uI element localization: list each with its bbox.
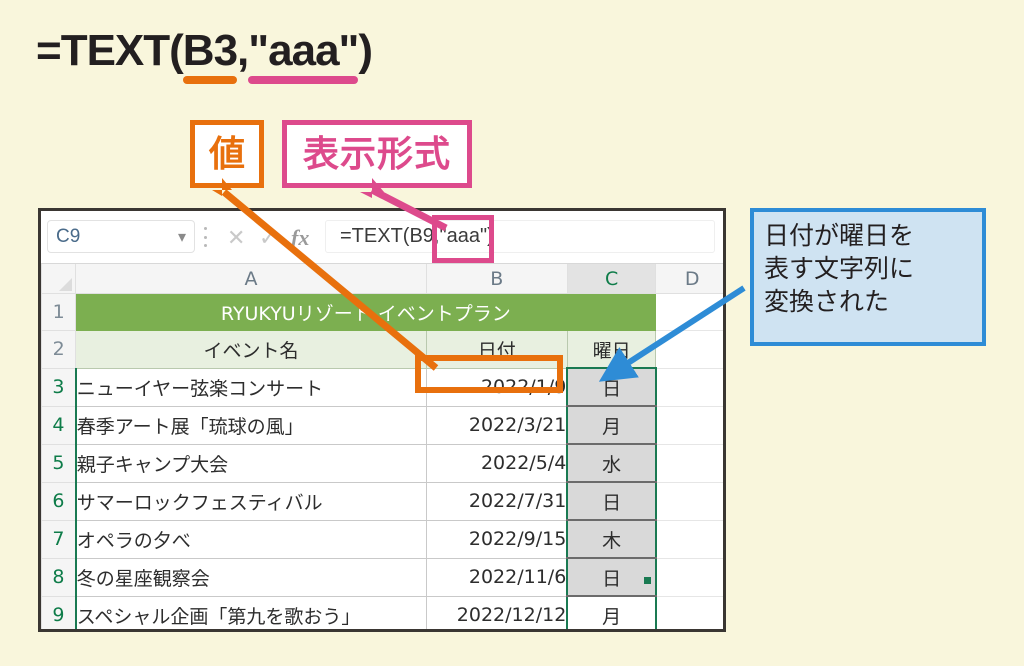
select-all-corner[interactable] (42, 264, 76, 294)
cell-d7[interactable] (656, 520, 726, 558)
row-header-1[interactable]: 1 (42, 294, 76, 331)
fill-handle[interactable] (644, 577, 651, 584)
table-row: 3 ニューイヤー弦楽コンサート 2022/1/9 日 (42, 368, 727, 406)
cell-b8-date[interactable]: 2022/11/6 (426, 558, 567, 596)
page-title: =TEXT(B3,"aaa") (36, 26, 372, 76)
name-box[interactable]: C9 ▾ (47, 220, 195, 253)
cell-a2-header-name[interactable]: イベント名 (76, 331, 427, 369)
cancel-icon[interactable]: ✕ (227, 225, 245, 251)
callout-value-label: 値 (190, 120, 264, 188)
cell-c6-day[interactable]: 日 (567, 482, 656, 520)
spreadsheet-grid[interactable]: A B C D 1 RYUKYUリゾート イベントプラン 2 イベント名 日付 … (41, 264, 726, 632)
row-header-7[interactable]: 7 (42, 520, 76, 558)
formula-prefix: =TEXT( (36, 26, 183, 75)
cell-a4-event-name[interactable]: 春季アート展「琉球の風」 (76, 406, 427, 444)
cell-c4-day[interactable]: 月 (567, 406, 656, 444)
cell-d8[interactable] (656, 558, 726, 596)
cell-b2-header-date[interactable]: 日付 (426, 331, 567, 369)
cell-d9[interactable] (656, 596, 726, 632)
result-note-line-3: 変換された (764, 285, 972, 318)
insert-function-icon[interactable]: fx (291, 225, 309, 251)
row-header-2[interactable]: 2 (42, 331, 76, 369)
cell-b3-date[interactable]: 2022/1/9 (426, 368, 567, 406)
table-row: 8 冬の星座観察会 2022/11/6 日 (42, 558, 727, 596)
cell-d2[interactable] (656, 331, 726, 369)
cell-c7-day[interactable]: 木 (567, 520, 656, 558)
cell-d3[interactable] (656, 368, 726, 406)
formula-suffix: ) (358, 26, 372, 75)
table-row: 5 親子キャンプ大会 2022/5/4 水 (42, 444, 727, 482)
cell-d5[interactable] (656, 444, 726, 482)
callout-result-note: 日付が曜日を 表す文字列に 変換された (750, 208, 986, 346)
cell-a7-event-name[interactable]: オペラの夕べ (76, 520, 427, 558)
more-options-icon[interactable] (203, 227, 207, 247)
cell-c2-header-day[interactable]: 曜日 (567, 331, 656, 369)
excel-window: C9 ▾ ✕ ✓ fx =TEXT(B9,"aaa") A B C D 1 RY… (38, 208, 726, 632)
formula-arg-value: B3 (183, 26, 237, 75)
formula-bar: C9 ▾ ✕ ✓ fx =TEXT(B9,"aaa") (41, 211, 723, 264)
chevron-down-icon[interactable]: ▾ (178, 227, 186, 247)
formula-comma: , (237, 26, 248, 75)
cell-a5-event-name[interactable]: 親子キャンプ大会 (76, 444, 427, 482)
row-header-3[interactable]: 3 (42, 368, 76, 406)
column-header-a[interactable]: A (76, 264, 427, 294)
table-row: 7 オペラの夕べ 2022/9/15 木 (42, 520, 727, 558)
table-row: 1 RYUKYUリゾート イベントプラン (42, 294, 727, 331)
result-note-line-2: 表す文字列に (764, 252, 972, 285)
cell-b5-date[interactable]: 2022/5/4 (426, 444, 567, 482)
cell-b7-date[interactable]: 2022/9/15 (426, 520, 567, 558)
formula-input[interactable]: =TEXT(B9,"aaa") (325, 220, 715, 253)
column-header-d[interactable]: D (656, 264, 726, 294)
column-header-c[interactable]: C (567, 264, 656, 294)
cell-a1-sheet-title[interactable]: RYUKYUリゾート イベントプラン (76, 294, 656, 331)
cell-a3-event-name[interactable]: ニューイヤー弦楽コンサート (76, 368, 427, 406)
cell-d4[interactable] (656, 406, 726, 444)
row-header-4[interactable]: 4 (42, 406, 76, 444)
cell-c5-day[interactable]: 水 (567, 444, 656, 482)
column-header-row: A B C D (42, 264, 727, 294)
cell-a6-event-name[interactable]: サマーロックフェスティバル (76, 482, 427, 520)
row-header-9[interactable]: 9 (42, 596, 76, 632)
callout-format-label: 表示形式 (282, 120, 472, 188)
table-row: 2 イベント名 日付 曜日 (42, 331, 727, 369)
cell-d6[interactable] (656, 482, 726, 520)
cell-d1[interactable] (656, 294, 726, 331)
table-row: 6 サマーロックフェスティバル 2022/7/31 日 (42, 482, 727, 520)
formula-arg-format: "aaa" (248, 26, 358, 75)
cell-b4-date[interactable]: 2022/3/21 (426, 406, 567, 444)
cell-c9-day-selected[interactable]: 月 (567, 596, 656, 632)
cell-a9-event-name[interactable]: スペシャル企画「第九を歌おう」 (76, 596, 427, 632)
cell-b9-date[interactable]: 2022/12/12 (426, 596, 567, 632)
row-header-5[interactable]: 5 (42, 444, 76, 482)
table-row: 9 スペシャル企画「第九を歌おう」 2022/12/12 月 (42, 596, 727, 632)
cell-c8-day[interactable]: 日 (567, 558, 656, 596)
result-note-line-1: 日付が曜日を (764, 219, 972, 252)
confirm-icon[interactable]: ✓ (259, 225, 277, 251)
name-box-value: C9 (56, 226, 178, 248)
table-row: 4 春季アート展「琉球の風」 2022/3/21 月 (42, 406, 727, 444)
cell-a8-event-name[interactable]: 冬の星座観察会 (76, 558, 427, 596)
column-header-b[interactable]: B (426, 264, 567, 294)
row-header-8[interactable]: 8 (42, 558, 76, 596)
cell-b6-date[interactable]: 2022/7/31 (426, 482, 567, 520)
cell-c3-day[interactable]: 日 (567, 368, 656, 406)
row-header-6[interactable]: 6 (42, 482, 76, 520)
